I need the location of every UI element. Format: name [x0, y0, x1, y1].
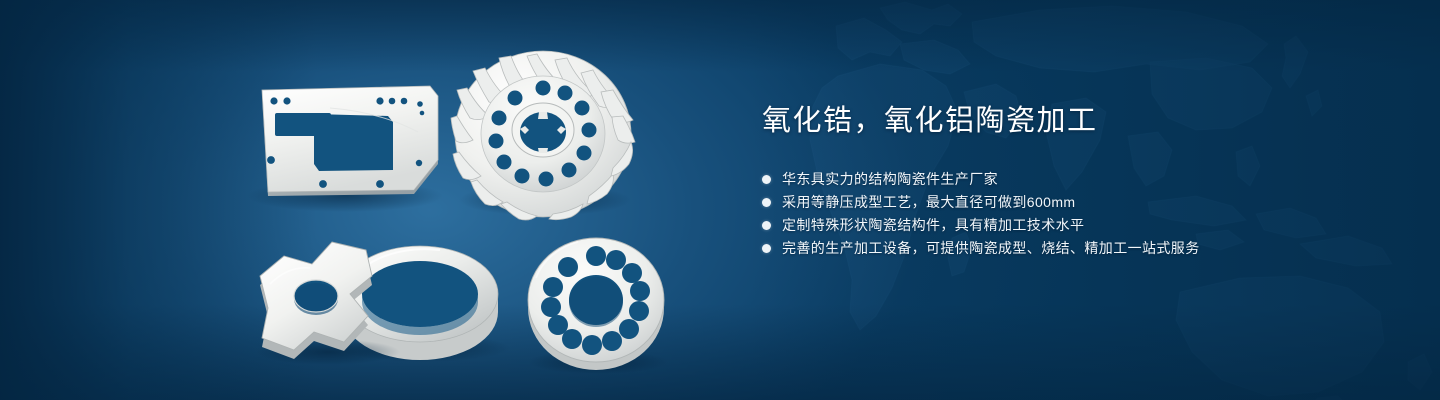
- feature-list-item: 完善的生产加工设备，可提供陶瓷成型、烧结、精加工一站式服务: [762, 237, 1402, 260]
- feature-text: 完善的生产加工设备，可提供陶瓷成型、烧结、精加工一站式服务: [782, 241, 1200, 255]
- product-showcase: [0, 0, 730, 400]
- bullet-dot-icon: [762, 221, 771, 230]
- feature-text: 采用等静压成型工艺，最大直径可做到600mm: [782, 195, 1075, 209]
- feature-list-item: 华东具实力的结构陶瓷件生产厂家: [762, 168, 1402, 191]
- bullet-dot-icon: [762, 175, 771, 184]
- feature-list-item: 定制特殊形状陶瓷结构件，具有精加工技术水平: [762, 214, 1402, 237]
- feature-text: 定制特殊形状陶瓷结构件，具有精加工技术水平: [782, 218, 1084, 232]
- feature-list-item: 采用等静压成型工艺，最大直径可做到600mm: [762, 191, 1402, 214]
- feature-list: 华东具实力的结构陶瓷件生产厂家 采用等静压成型工艺，最大直径可做到600mm 定…: [762, 168, 1402, 260]
- banner-copy: 氧化锆，氧化铝陶瓷加工 华东具实力的结构陶瓷件生产厂家 采用等静压成型工艺，最大…: [762, 104, 1402, 260]
- bullet-dot-icon: [762, 244, 771, 253]
- feature-text: 华东具实力的结构陶瓷件生产厂家: [782, 172, 998, 186]
- product-ceramic-perforated-disc: [528, 238, 668, 374]
- promo-banner: 氧化锆，氧化铝陶瓷加工 华东具实力的结构陶瓷件生产厂家 采用等静压成型工艺，最大…: [0, 0, 1440, 400]
- bullet-dot-icon: [762, 198, 771, 207]
- product-ceramic-impeller: [451, 51, 635, 220]
- banner-headline: 氧化锆，氧化铝陶瓷加工: [762, 104, 1402, 139]
- product-ceramic-plate: [247, 86, 443, 212]
